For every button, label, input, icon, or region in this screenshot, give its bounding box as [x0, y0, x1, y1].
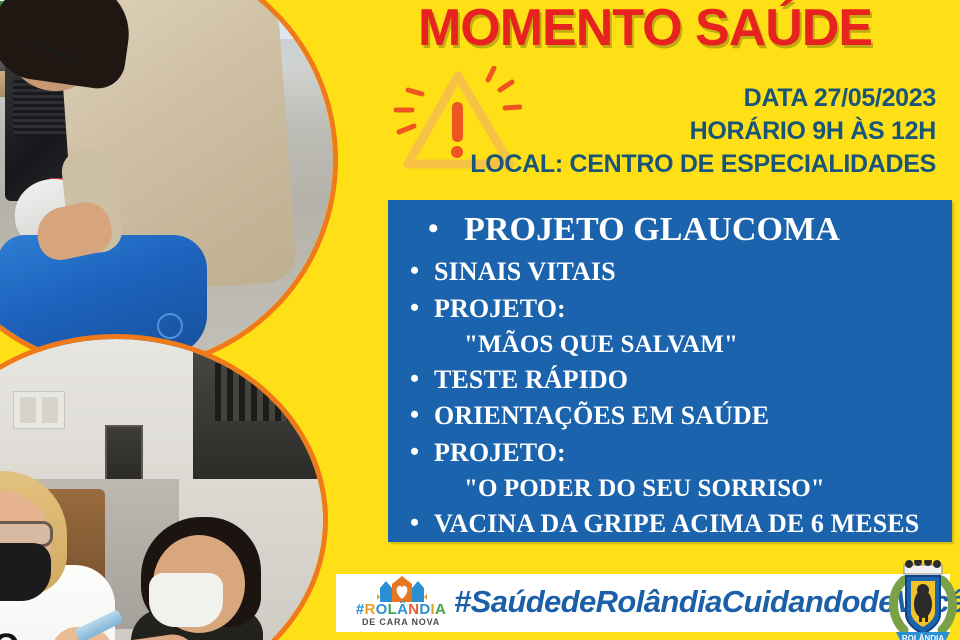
vac-shirt-graphic: L O V E: [0, 625, 63, 640]
cpr-photo-inner: [0, 0, 333, 367]
list-item-sub: "MÃOS QUE SALVAM": [402, 327, 942, 362]
rolandia-hash: #: [356, 601, 365, 618]
footer-bar: #ROLÂNDIA DE CARA NOVA #SaúdedeRolândiaC…: [336, 574, 950, 632]
list-item-sub: "O PODER DO SEU SORRISO": [402, 471, 942, 506]
vac-light-switch: [13, 391, 65, 429]
poster-canvas: L O V E: [0, 0, 960, 640]
services-box: PROJETO GLAUCOMA SINAIS VITAIS PROJETO: …: [388, 200, 952, 542]
rolandia-letter: N: [408, 601, 419, 618]
rolandia-letter: D: [419, 601, 430, 618]
rolandia-letter: A: [435, 601, 446, 618]
list-item: PROJETO:: [402, 291, 942, 327]
photo-column: L O V E: [0, 0, 340, 640]
rolandia-wordmark: #ROLÂNDIA: [348, 601, 454, 618]
list-item: TESTE RÁPIDO: [402, 362, 942, 398]
vac-window-grate: [215, 363, 307, 421]
rolandia-house-icon: [376, 576, 428, 602]
content-panel: MOMENTO SAÚDE DATA 27/05/2023 HORÁRIO 9H…: [330, 0, 960, 640]
vac-nurse-mask: [149, 573, 223, 627]
crest-crown: [904, 560, 942, 574]
rolandia-letter: L: [388, 601, 397, 618]
rolandia-letter: Â: [397, 601, 408, 618]
rolandia-tagline: DE CARA NOVA: [348, 617, 454, 627]
list-item: PROJETO:: [402, 435, 942, 471]
list-item: VACINA DA GRIPE ACIMA DE 6 MESES: [402, 506, 942, 542]
event-info-block: DATA 27/05/2023 HORÁRIO 9H ÀS 12H LOCAL:…: [330, 82, 960, 181]
list-item: ORIENTAÇÕES EM SAÚDE: [402, 398, 942, 434]
rolandia-letter: R: [365, 601, 376, 618]
services-list: PROJETO GLAUCOMA SINAIS VITAIS PROJETO: …: [402, 208, 942, 543]
crest-ribbon-text: ROLÂNDIA: [902, 634, 944, 640]
list-item: SINAIS VITAIS: [402, 254, 942, 290]
vac-shirt-letter-o: O: [0, 629, 19, 640]
vaccination-photo: L O V E: [0, 334, 328, 640]
page-title: MOMENTO SAÚDE: [330, 2, 960, 55]
event-date: DATA 27/05/2023: [330, 82, 936, 115]
rolandia-coat-of-arms: ROLÂNDIA: [884, 560, 960, 640]
event-location: LOCAL: CENTRO DE ESPECIALIDADES: [330, 148, 936, 181]
rolandia-logo: #ROLÂNDIA DE CARA NOVA: [348, 574, 454, 632]
vaccination-photo-inner: L O V E: [0, 339, 323, 640]
event-time: HORÁRIO 9H ÀS 12H: [330, 115, 936, 148]
rolandia-letter: O: [376, 601, 388, 618]
service-heading: PROJETO GLAUCOMA: [402, 208, 942, 252]
cpr-training-photo: [0, 0, 338, 372]
